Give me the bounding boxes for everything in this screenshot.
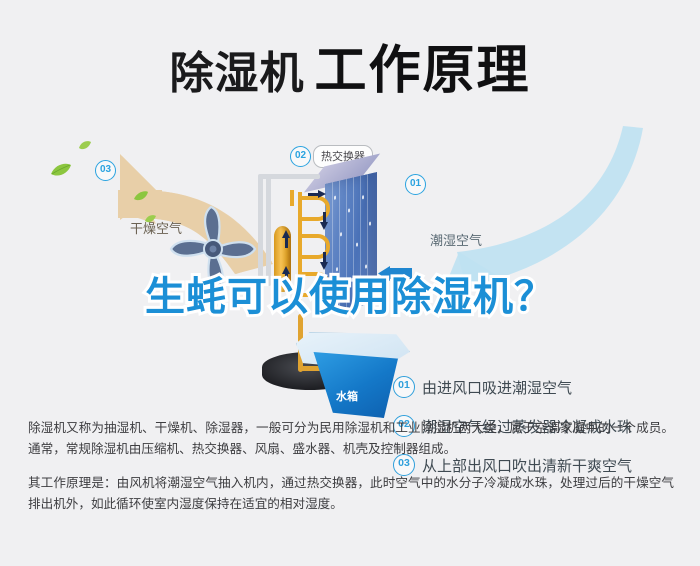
list-item: 01 由进风口吸进潮湿空气 (393, 376, 693, 398)
water-tank-label: 水箱 (336, 388, 358, 404)
dehumidifier-diagram: 03 01 02 干燥空气 潮湿空气 热交换器 (0, 118, 700, 403)
leaf-icon (133, 190, 149, 202)
title-part-1: 除湿机 (169, 49, 304, 98)
flow-arrow-down-icon (320, 222, 328, 230)
paragraph-2: 其工作原理是：由风机将潮湿空气抽入机内，通过热交换器，此时空气中的水分子冷凝成水… (28, 473, 674, 515)
leaf-icon (78, 140, 92, 151)
flow-arrow-right-icon (318, 190, 326, 198)
article-body: 除湿机又称为抽湿机、干燥机、除湿器，一般可分为民用除湿机和工业除湿机两大类，属于… (28, 418, 674, 528)
leaf-icon (50, 162, 72, 178)
paragraph-1: 除湿机又称为抽湿机、干燥机、除湿器，一般可分为民用除湿机和工业除湿机两大类，属于… (28, 418, 674, 460)
page-title: 除湿机工作原理 (0, 28, 700, 103)
title-part-2: 工作原理 (314, 42, 530, 100)
pipe-segment (258, 174, 320, 179)
humid-air-label: 潮湿空气 (430, 230, 482, 249)
badge-dry-air: 03 (95, 160, 116, 181)
poster-root: 除湿机工作原理 03 01 02 (0, 0, 700, 566)
overlay-headline: 生蚝可以使用除湿机？ (0, 264, 700, 322)
step-text: 由进风口吸进潮湿空气 (422, 377, 572, 398)
step-number: 01 (393, 376, 415, 398)
